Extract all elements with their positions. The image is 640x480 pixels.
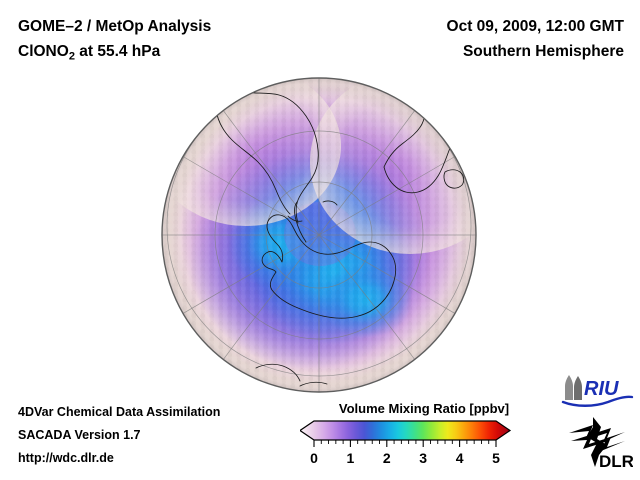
globe-map bbox=[160, 76, 478, 394]
orthographic-projection-svg bbox=[160, 76, 478, 394]
timestamp-label: Oct 09, 2009, 12:00 GMT bbox=[447, 14, 624, 39]
colorbar-ticks bbox=[314, 440, 496, 447]
footer-credits: 4DVar Chemical Data Assimilation SACADA … bbox=[18, 401, 220, 470]
colorbar-tick-label: 2 bbox=[383, 450, 391, 466]
colorbar-tick-label: 0 bbox=[310, 450, 318, 466]
method-label: 4DVar Chemical Data Assimilation bbox=[18, 401, 220, 424]
riu-logo-text: RIU bbox=[584, 378, 619, 400]
version-label: SACADA Version 1.7 bbox=[18, 424, 220, 447]
riu-logo: RIU bbox=[560, 374, 634, 408]
dlr-logo-text: DLR bbox=[599, 452, 633, 471]
colorbar-tick-label: 3 bbox=[419, 450, 427, 466]
colorbar-title: Volume Mixing Ratio [ppbv] bbox=[300, 401, 548, 416]
colorbar-tick-label: 5 bbox=[492, 450, 500, 466]
colorbar-tick-label: 4 bbox=[456, 450, 464, 466]
colorbar-tick-labels: 012345 bbox=[310, 450, 500, 466]
hemisphere-label: Southern Hemisphere bbox=[447, 39, 624, 64]
species-level-title: ClONO2 at 55.4 hPa bbox=[18, 39, 211, 70]
coastline-africa-north bbox=[422, 78, 466, 118]
species-name: ClONO bbox=[18, 43, 69, 60]
colorbar-svg: 012345 bbox=[300, 420, 548, 478]
header-title-right: Oct 09, 2009, 12:00 GMT Southern Hemisph… bbox=[447, 14, 624, 64]
pressure-level-text: at 55.4 hPa bbox=[75, 43, 160, 60]
instrument-title: GOME–2 / MetOp Analysis bbox=[18, 14, 211, 39]
coastline-madagascar bbox=[456, 132, 474, 150]
website-url[interactable]: http://wdc.dlr.de bbox=[18, 447, 220, 470]
colorbar: Volume Mixing Ratio [ppbv] 012345 bbox=[300, 401, 548, 478]
colorbar-ramp bbox=[300, 420, 514, 442]
header-title-left: GOME–2 / MetOp Analysis ClONO2 at 55.4 h… bbox=[18, 14, 211, 70]
colorbar-tick-label: 1 bbox=[347, 450, 355, 466]
dlr-logo: DLR bbox=[563, 415, 633, 473]
cathedral-towers-icon bbox=[565, 375, 582, 400]
